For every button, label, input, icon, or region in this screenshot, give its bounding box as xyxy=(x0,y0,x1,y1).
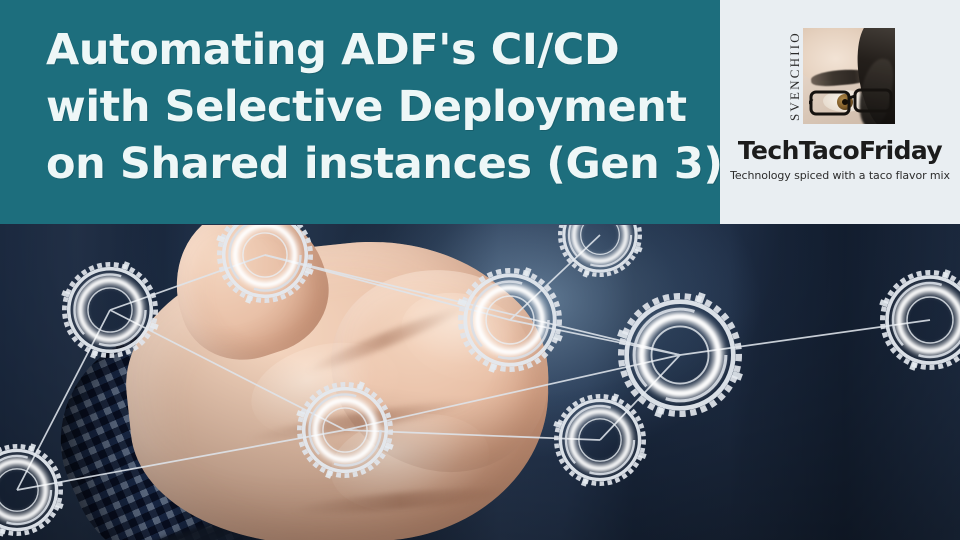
brand-name: TechTacoFriday xyxy=(738,136,942,165)
brand-logo-panel: SVENCHIIO TechTacoFriday Technology spic… xyxy=(720,0,960,224)
page-title: Automating ADF's CI/CD with Selective De… xyxy=(46,22,694,193)
network-link xyxy=(17,430,345,490)
title-banner: Automating ADF's CI/CD with Selective De… xyxy=(0,0,720,224)
title-line-1: Automating ADF's CI/CD xyxy=(46,22,694,79)
banner-image-canvas: Automating ADF's CI/CD with Selective De… xyxy=(0,0,960,540)
network-node xyxy=(0,443,64,536)
portrait-block: SVENCHIIO xyxy=(785,28,895,124)
network-overlay xyxy=(0,225,960,540)
network-node xyxy=(216,225,313,304)
network-link xyxy=(265,255,680,355)
network-nodes xyxy=(0,225,960,537)
portrait-image xyxy=(803,28,895,124)
title-line-3: on Shared instances (Gen 3) xyxy=(46,136,694,193)
network-node xyxy=(557,225,642,278)
network-links xyxy=(17,235,930,490)
brand-tagline: Technology spiced with a taco flavor mix xyxy=(730,169,950,182)
eyeglasses-icon xyxy=(809,88,893,118)
title-line-2: with Selective Deployment xyxy=(46,79,694,136)
portrait-artist-caption: SVENCHIIO xyxy=(785,28,803,124)
network-node xyxy=(879,269,960,370)
network-link xyxy=(110,255,265,310)
